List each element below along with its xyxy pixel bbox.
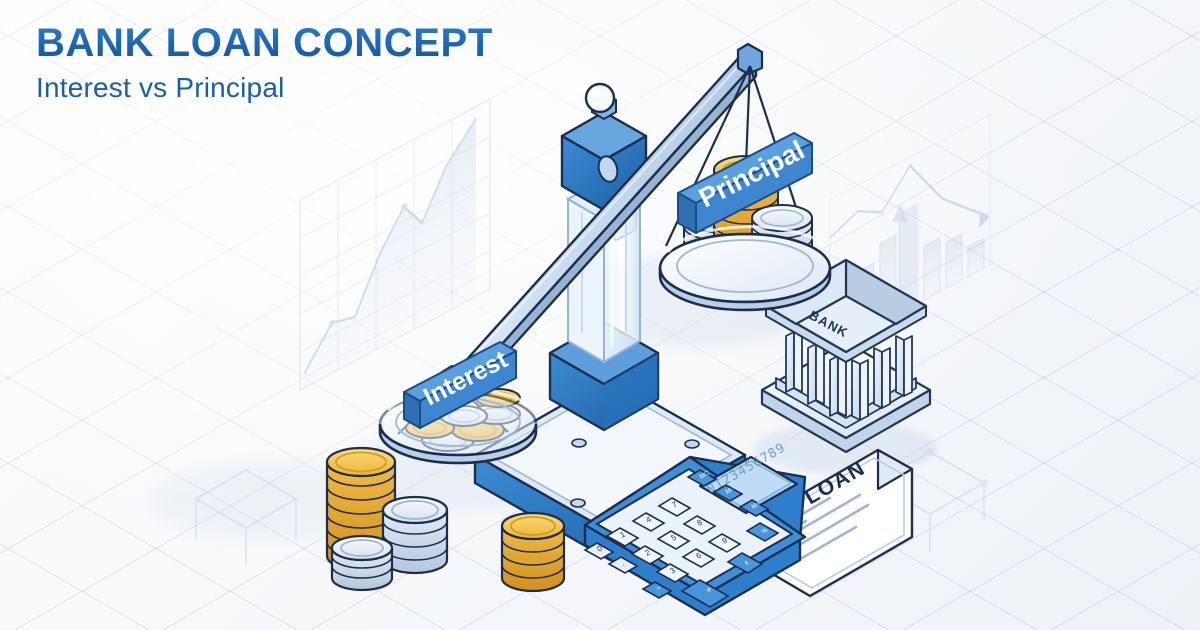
right-pan-assembly: Principal — [660, 66, 830, 310]
gold-stack-small — [502, 513, 564, 591]
background-line-area-chart — [300, 99, 490, 390]
title-block: BANK LOAN CONCEPT Interest vs Principal — [36, 22, 493, 104]
base-screw-front — [571, 499, 585, 507]
silver-stack-small — [332, 536, 392, 590]
base-screw-left — [572, 439, 586, 447]
page-title: BANK LOAN CONCEPT — [36, 22, 493, 65]
pivot-knob — [586, 84, 614, 112]
base-screw-right — [685, 440, 699, 448]
poster-canvas: BANK LOAN CONCEPT Interest vs Principal — [0, 0, 1200, 630]
left-pan-assembly: Interest — [380, 342, 536, 463]
page-subtitle: Interest vs Principal — [36, 72, 493, 104]
